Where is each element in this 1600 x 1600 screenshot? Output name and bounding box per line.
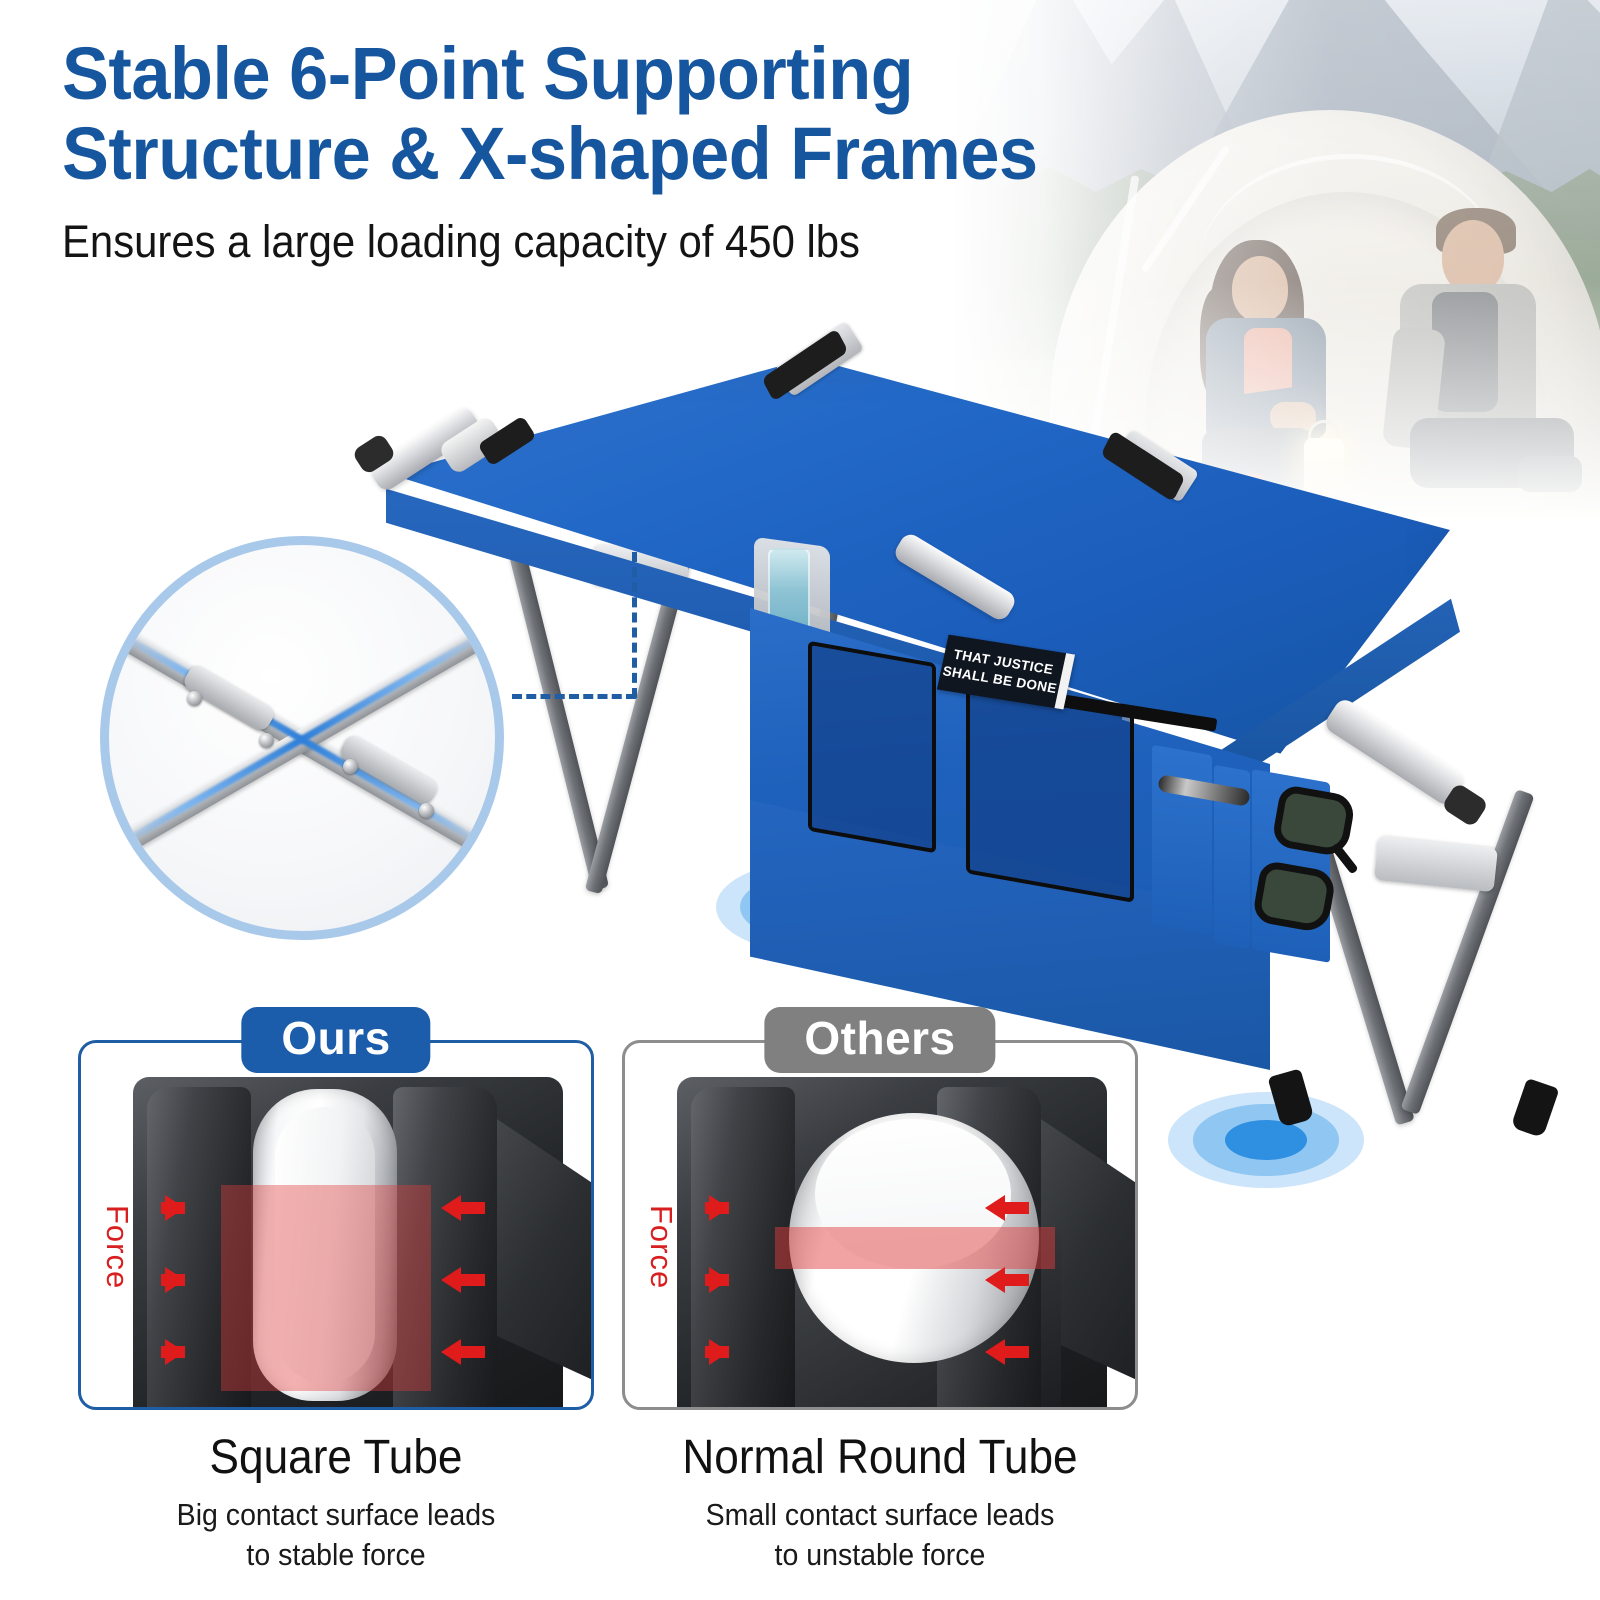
- force-arrow-right: [709, 1267, 729, 1293]
- caption-ours-sub: Big contact surface leads to stable forc…: [99, 1495, 574, 1574]
- force-arrow-right: [709, 1339, 729, 1365]
- x-frame-magnifier: [100, 536, 504, 940]
- force-arrow-left: [441, 1267, 461, 1293]
- comparison-section: Force Ours: [78, 1040, 1138, 1410]
- force-label-others: Force: [643, 1205, 679, 1289]
- force-arrow-left: [985, 1267, 1005, 1293]
- cot-leg: [508, 547, 609, 891]
- cot-leg: [1400, 789, 1534, 1115]
- caption-ours-title: Square Tube: [99, 1430, 574, 1485]
- panel-ours-image: Force: [81, 1043, 591, 1407]
- sunglasses-arm: [1331, 842, 1359, 874]
- sunglasses-lens: [1251, 860, 1337, 934]
- caption-others-sub: Small contact surface leads to unstable …: [643, 1495, 1118, 1574]
- callout-leader-vertical: [632, 552, 637, 698]
- mesh-pocket: [808, 641, 936, 854]
- force-arrow-right: [165, 1195, 185, 1221]
- sunglasses-lens: [1271, 784, 1357, 858]
- rivet: [187, 691, 202, 706]
- rivet: [343, 759, 358, 774]
- cot-foot: [1510, 1078, 1559, 1138]
- clamp-assembly-round: Force: [625, 1077, 1135, 1407]
- rivet: [419, 803, 434, 818]
- infographic-canvas: Stable 6-Point Supporting Structure & X-…: [0, 0, 1600, 1600]
- comparison-captions: Square Tube Big contact surface leads to…: [78, 1430, 1138, 1574]
- badge-ours: Ours: [241, 1007, 430, 1073]
- contact-surface-band: [221, 1185, 431, 1391]
- cot-rail: [1322, 696, 1467, 808]
- force-arrow-right: [165, 1339, 185, 1365]
- panel-others-image: Force: [625, 1043, 1135, 1407]
- force-arrow-left: [441, 1339, 461, 1365]
- x-frame-joint: [1374, 836, 1498, 892]
- force-arrow-right: [709, 1195, 729, 1221]
- rivet: [259, 733, 274, 748]
- force-arrow-left: [441, 1195, 461, 1221]
- badge-others: Others: [764, 1007, 995, 1073]
- contact-surface-band: [775, 1227, 1055, 1269]
- page-subtitle: Ensures a large loading capacity of 450 …: [62, 216, 1159, 268]
- panel-others: Force Others: [622, 1040, 1138, 1410]
- cot-foot: [1267, 1068, 1314, 1127]
- force-label-ours: Force: [99, 1205, 135, 1289]
- callout-leader-horizontal: [512, 694, 636, 699]
- organizer-pocket: [1152, 745, 1212, 936]
- clamp-assembly-square: Force: [81, 1077, 591, 1407]
- panel-ours: Force Ours: [78, 1040, 594, 1410]
- page-title: Stable 6-Point Supporting Structure & X-…: [62, 34, 1183, 194]
- force-arrow-left: [985, 1339, 1005, 1365]
- caption-others: Normal Round Tube Small contact surface …: [622, 1430, 1138, 1574]
- force-arrow-right: [165, 1267, 185, 1293]
- mesh-pocket: [966, 683, 1134, 903]
- headline-block: Stable 6-Point Supporting Structure & X-…: [62, 34, 1242, 268]
- force-arrow-left: [985, 1195, 1005, 1221]
- caption-ours: Square Tube Big contact surface leads to…: [78, 1430, 594, 1574]
- caption-others-title: Normal Round Tube: [643, 1430, 1118, 1485]
